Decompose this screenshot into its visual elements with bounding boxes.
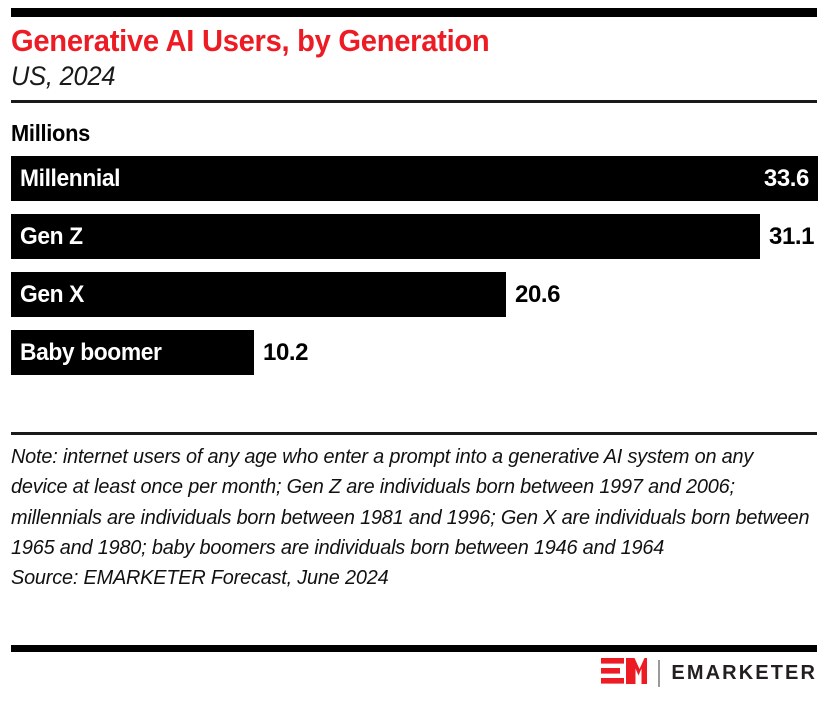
source-line: Source: EMARKETER Forecast, June 2024 <box>11 563 793 593</box>
footer-divider-band <box>11 645 817 652</box>
chart-card: Generative AI Users, by Generation US, 2… <box>0 0 828 703</box>
note-line: Note: internet users of any age who ente… <box>11 442 793 472</box>
bar-row: Baby boomer 10.2 <box>11 330 817 375</box>
logo-wordmark: EMARKETER <box>671 662 817 685</box>
logo-divider <box>658 660 660 687</box>
bar-value-label: 20.6 <box>506 272 560 317</box>
bar-category-label: Millennial <box>20 165 120 193</box>
note-divider <box>11 432 817 435</box>
emarketer-logo: EMARKETER <box>601 657 817 690</box>
header-divider <box>11 100 817 103</box>
page-title: Generative AI Users, by Generation <box>11 25 769 58</box>
bar-category-label: Baby boomer <box>20 339 162 367</box>
bar-value-label: 33.6 <box>764 165 809 193</box>
em-logo-icon <box>601 657 647 690</box>
bar-value-label: 10.2 <box>254 330 308 375</box>
note-line: 1965 and 1980; baby boomers are individu… <box>11 533 793 563</box>
bar-category-label: Gen X <box>20 281 84 309</box>
top-divider-band <box>11 8 817 17</box>
bar-baby-boomer: Baby boomer <box>11 330 254 375</box>
units-label: Millions <box>11 120 777 147</box>
bar-millennial: Millennial 33.6 <box>11 156 818 201</box>
chart-header: Generative AI Users, by Generation US, 2… <box>11 17 817 91</box>
bar-value-label: 31.1 <box>760 214 814 259</box>
bar-row: Millennial 33.6 <box>11 156 817 201</box>
note-line: device at least once per month; Gen Z ar… <box>11 472 793 502</box>
bar-row: Gen X 20.6 <box>11 272 817 317</box>
footnote-block: Note: internet users of any age who ente… <box>11 442 817 594</box>
bar-gen-z: Gen Z <box>11 214 760 259</box>
bar-chart-plot: Millennial 33.6 Gen Z 31.1 Gen X 20.6 Ba… <box>11 156 817 375</box>
bar-category-label: Gen Z <box>20 223 83 251</box>
chart-subtitle: US, 2024 <box>11 61 769 91</box>
bar-row: Gen Z 31.1 <box>11 214 817 259</box>
bar-gen-x: Gen X <box>11 272 506 317</box>
note-line: millennials are individuals born between… <box>11 503 793 533</box>
